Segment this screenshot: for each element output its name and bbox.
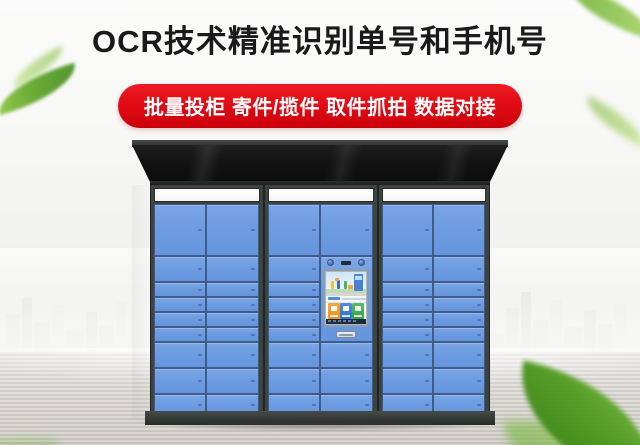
feature-list-badge: 批量投柜 寄件/揽件 取件抓拍 数据对接	[118, 84, 522, 128]
locker-door[interactable]	[206, 282, 259, 297]
card-reader-slot[interactable]	[336, 331, 356, 338]
locker-door[interactable]	[433, 342, 485, 368]
locker-door[interactable]	[154, 368, 206, 394]
kiosk-hero-banner	[326, 272, 366, 296]
locker-door[interactable]	[320, 368, 373, 394]
locker-door[interactable]	[382, 368, 433, 394]
locker-bay-left	[150, 185, 264, 413]
promo-banner: OCR技术精准识别单号和手机号 批量投柜 寄件/揽件 取件抓拍 数据对接	[0, 0, 640, 445]
cabinet-body	[150, 185, 490, 413]
locker-door[interactable]	[433, 297, 485, 312]
locker-door[interactable]	[206, 312, 259, 327]
locker-door[interactable]	[154, 297, 206, 312]
camera-icon	[327, 259, 334, 266]
locker-door[interactable]	[206, 368, 259, 394]
locker-door[interactable]	[154, 342, 206, 368]
kiosk-screen[interactable]	[323, 269, 369, 327]
bay-header-strip-center	[268, 188, 374, 202]
locker-door[interactable]	[382, 342, 433, 368]
sensor-row	[322, 258, 370, 267]
locker-door[interactable]	[206, 342, 259, 368]
locker-door[interactable]	[268, 256, 320, 282]
locker-door[interactable]	[154, 282, 206, 297]
locker-door[interactable]	[154, 312, 206, 327]
locker-door[interactable]	[433, 368, 485, 394]
kiosk-notice-strip	[326, 296, 366, 303]
locker-door[interactable]	[433, 204, 485, 256]
kiosk-pickup-button[interactable]	[340, 303, 352, 319]
kiosk-deposit-button[interactable]	[328, 303, 340, 319]
kiosk-screen-content	[326, 272, 366, 324]
locker-door[interactable]	[382, 282, 433, 297]
locker-door[interactable]	[268, 368, 320, 394]
locker-door[interactable]	[382, 312, 433, 327]
bay-header-strip-right	[382, 188, 486, 202]
locker-door[interactable]	[206, 204, 259, 256]
locker-door[interactable]	[206, 327, 259, 342]
locker-door[interactable]	[433, 312, 485, 327]
locker-door[interactable]	[268, 282, 320, 297]
locker-door[interactable]	[268, 342, 320, 368]
smart-locker-cabinet	[132, 140, 508, 425]
locker-door[interactable]	[320, 342, 373, 368]
locker-bay-right	[378, 185, 490, 413]
bay-header-strip-left	[154, 188, 260, 202]
hero-locker-graphic	[354, 274, 363, 291]
locker-door[interactable]	[382, 297, 433, 312]
locker-door[interactable]	[154, 204, 206, 256]
locker-door[interactable]	[268, 312, 320, 327]
locker-door[interactable]	[382, 204, 433, 256]
locker-door[interactable]	[382, 327, 433, 342]
kiosk-terminal[interactable]	[322, 258, 371, 342]
locker-door[interactable]	[433, 256, 485, 282]
barcode-scanner-icon	[341, 261, 351, 265]
locker-door[interactable]	[268, 297, 320, 312]
locker-door[interactable]	[433, 327, 485, 342]
kiosk-ship-button[interactable]	[352, 303, 364, 319]
locker-door[interactable]	[268, 204, 320, 256]
canopy-highlight	[132, 145, 508, 182]
locker-door[interactable]	[154, 327, 206, 342]
locker-door[interactable]	[320, 204, 373, 256]
locker-bay-center	[264, 185, 378, 413]
page-title: OCR技术精准识别单号和手机号	[0, 22, 640, 62]
base-contact-shadow	[138, 423, 502, 432]
locker-door[interactable]	[382, 256, 433, 282]
locker-door[interactable]	[154, 256, 206, 282]
kiosk-action-buttons	[326, 303, 366, 320]
locker-door[interactable]	[206, 297, 259, 312]
face-sensor-icon	[358, 259, 365, 266]
feature-pill-container: 批量投柜 寄件/揽件 取件抓拍 数据对接	[0, 84, 640, 128]
locker-door[interactable]	[268, 327, 320, 342]
kiosk-screen-footer	[326, 319, 366, 324]
locker-door[interactable]	[433, 282, 485, 297]
locker-door[interactable]	[206, 256, 259, 282]
